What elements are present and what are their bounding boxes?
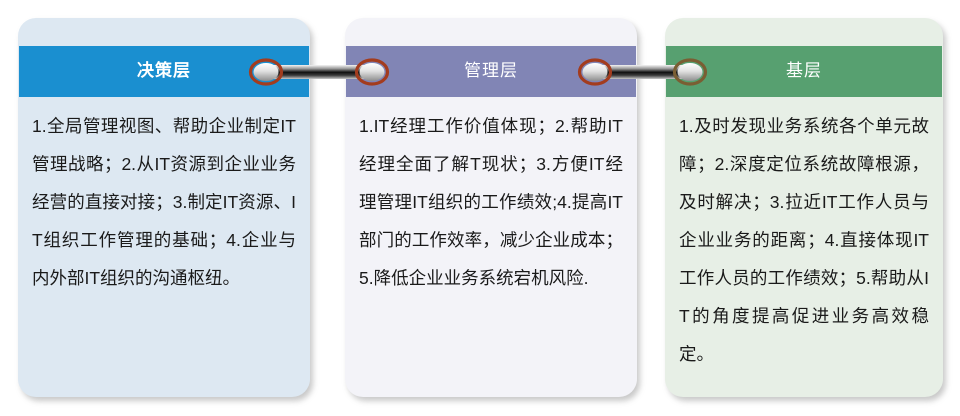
card-base-title: 基层 <box>786 62 822 79</box>
diagram-canvas: 决策层 1.全局管理视图、帮助企业制定IT管理战略；2.从IT资源到企业业务经营… <box>0 0 960 416</box>
card-decision-text: 1.全局管理视图、帮助企业制定IT管理战略；2.从IT资源到企业业务经营的直接对… <box>32 107 296 297</box>
card-management-title: 管理层 <box>464 62 518 79</box>
card-decision-body: 1.全局管理视图、帮助企业制定IT管理战略；2.从IT资源到企业业务经营的直接对… <box>18 97 310 397</box>
card-base-text: 1.及时发现业务系统各个单元故障；2.深度定位系统故障根源，及时解决；3.拉近I… <box>679 107 929 373</box>
bone-link-icon <box>578 52 707 92</box>
card-decision-title: 决策层 <box>137 62 191 79</box>
card-base-body: 1.及时发现业务系统各个单元故障；2.深度定位系统故障根源，及时解决；3.拉近I… <box>665 97 943 397</box>
bone-link-icon <box>249 52 389 92</box>
card-management-text: 1.IT经理工作价值体现；2.帮助IT经理全面了解T现状；3.方便IT经理管理I… <box>359 107 623 297</box>
card-base-header: 基层 <box>666 46 942 97</box>
card-management-body: 1.IT经理工作价值体现；2.帮助IT经理全面了解T现状；3.方便IT经理管理I… <box>345 97 637 397</box>
connector-management-to-base <box>578 52 707 92</box>
connector-decision-to-management <box>249 52 389 92</box>
